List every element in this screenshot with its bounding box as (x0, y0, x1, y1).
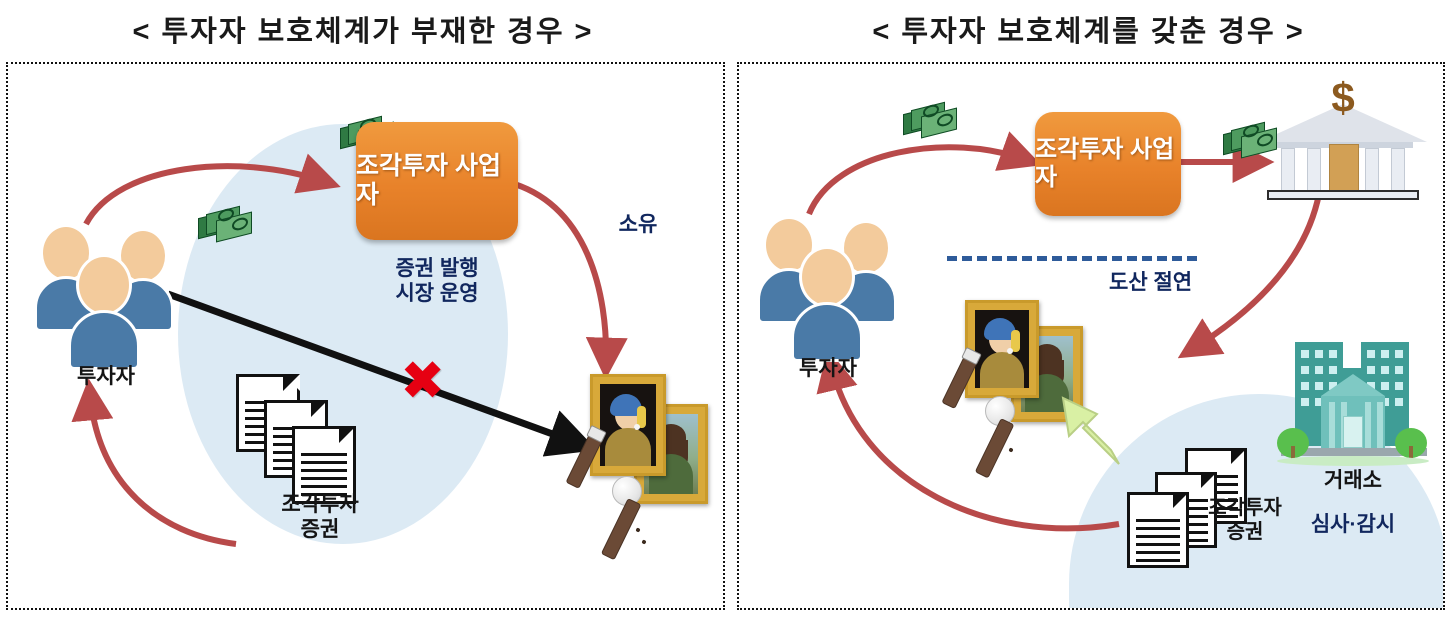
investor-label: 투자자 (753, 356, 903, 381)
money-bundle-icon (901, 96, 963, 144)
panel-no-protection: 투자자 조각투자 사업자 증권 발행 시장 운영 소유 (6, 62, 725, 610)
fractional-investment-operator-box[interactable]: 조각투자 사업자 (356, 122, 518, 240)
money-bundle-icon-bank (1221, 116, 1283, 164)
artwork-assets-right (955, 300, 1087, 490)
bank-dollar-symbol: $ (1259, 74, 1427, 122)
investor-label: 투자자 (32, 364, 180, 389)
securities-label: 조각투자 증권 (242, 492, 398, 542)
bankruptcy-remote-label: 도산 절연 (1109, 270, 1269, 295)
wristwatch-icon (584, 432, 670, 564)
bank-icon: $ (1259, 86, 1427, 206)
exchange-icon (1277, 342, 1429, 472)
panel-title-left: < 투자자 보호체계가 부재한 경우 > (0, 8, 726, 50)
money-bundle-icon (196, 200, 258, 248)
panel-with-protection: 투자자 조각투자 사업자 $ 도산 절연 (737, 62, 1445, 610)
diagram-canvas: < 투자자 보호체계가 부재한 경우 > < 투자자 보호체계를 갖춘 경우 > (0, 0, 1451, 626)
exchange-label: 거래소 (1277, 468, 1429, 493)
investor-group-icon (34, 214, 176, 354)
bankruptcy-remote-divider (947, 256, 1197, 261)
panel-title-right: < 투자자 보호체계를 갖춘 경우 > (726, 8, 1451, 50)
fractional-securities-docs (236, 374, 356, 504)
blocked-x-icon: ✖ (400, 354, 445, 408)
ownership-label: 소유 (598, 212, 678, 237)
investor-group-icon (757, 206, 899, 346)
exchange-function-label: 심사·감시 (1269, 512, 1437, 537)
fractional-investment-operator-box[interactable]: 조각투자 사업자 (1035, 112, 1181, 216)
artwork-assets-left (584, 374, 712, 564)
operator-function-label: 증권 발행 시장 운영 (356, 256, 518, 306)
wristwatch-icon (959, 354, 1045, 484)
